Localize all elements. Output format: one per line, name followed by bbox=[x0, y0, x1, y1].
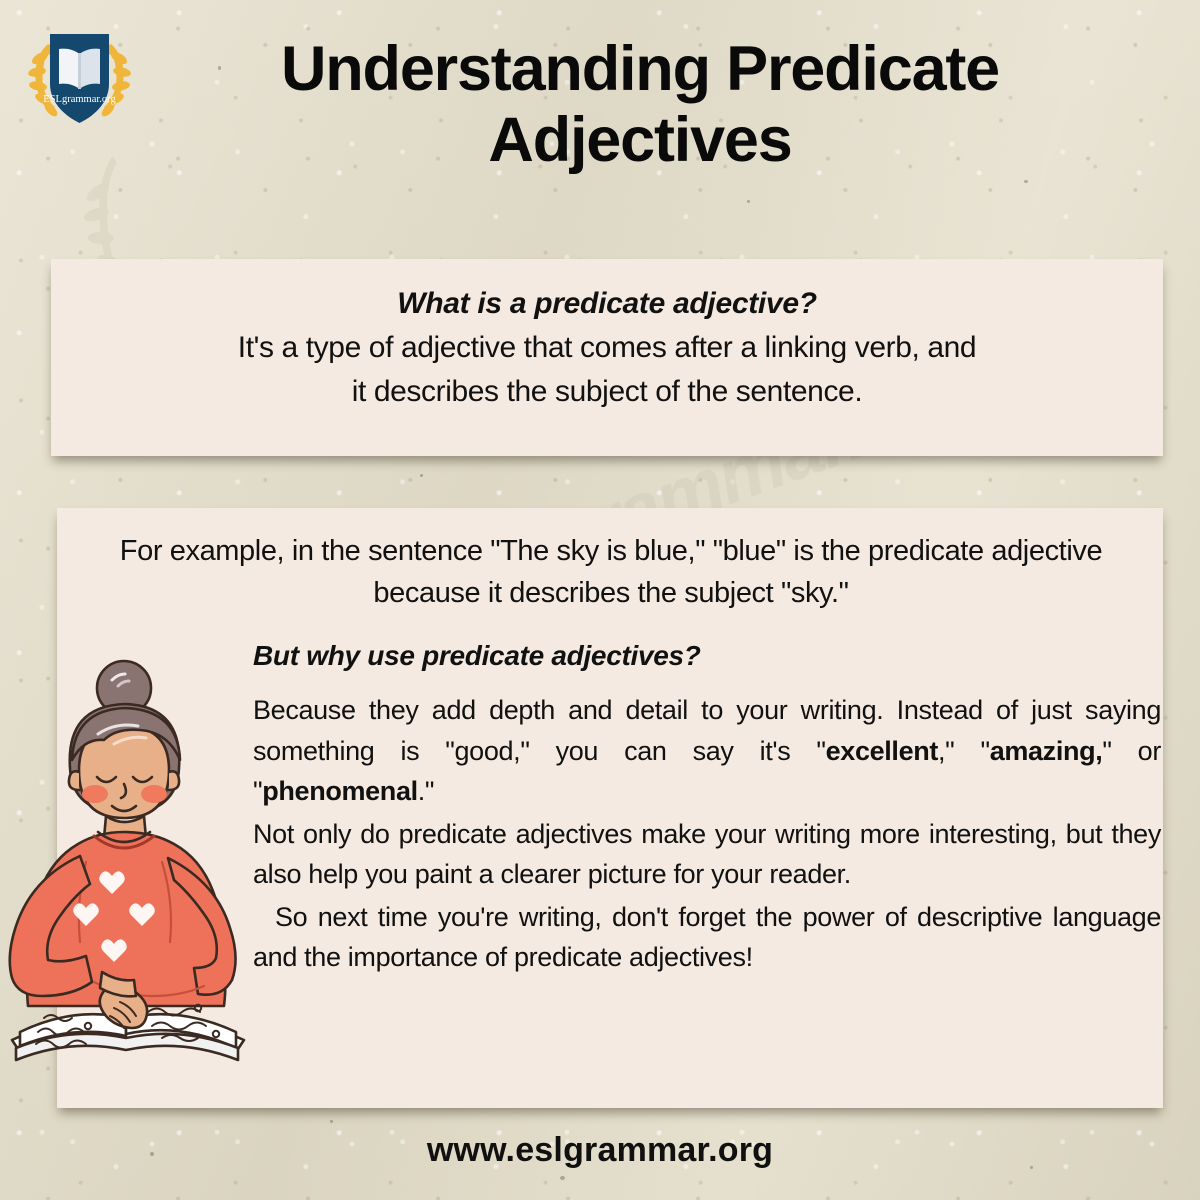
page-title: Understanding Predicate Adjectives bbox=[160, 34, 1120, 175]
definition-line-1: It's a type of adjective that comes afte… bbox=[51, 331, 1163, 365]
definition-heading: What is a predicate adjective? bbox=[51, 287, 1163, 321]
emphasis-word: amazing, bbox=[990, 736, 1103, 766]
definition-card: What is a predicate adjective? It's a ty… bbox=[51, 259, 1163, 456]
body-run: ." bbox=[418, 776, 434, 806]
body-run: So next time you're writing, don't forge… bbox=[253, 902, 1161, 973]
example-text: For example, in the sentence "The sky is… bbox=[91, 530, 1131, 614]
why-heading: But why use predicate adjectives? bbox=[253, 640, 1153, 672]
page-title-line2: Adjectives bbox=[160, 105, 1120, 176]
paper-speck bbox=[560, 1176, 565, 1180]
footer-website: www.eslgrammar.org bbox=[0, 1131, 1200, 1170]
paper-speck bbox=[747, 200, 750, 203]
paper-speck bbox=[1024, 180, 1028, 183]
logo-label: ESLgrammar.org bbox=[43, 94, 116, 105]
body-run: Not only do predicate adjectives make yo… bbox=[253, 819, 1161, 890]
emphasis-word: phenomenal bbox=[262, 776, 418, 806]
page-title-line1: Understanding Predicate bbox=[160, 34, 1120, 105]
body-paragraphs: Because they add depth and detail to you… bbox=[253, 690, 1161, 980]
body-paragraph: Because they add depth and detail to you… bbox=[253, 690, 1161, 812]
open-book-icon bbox=[59, 49, 100, 89]
body-run: ," " bbox=[938, 736, 990, 766]
eslgrammar-shield-logo: ESLgrammar.org bbox=[22, 22, 137, 134]
body-paragraph: So next time you're writing, don't forge… bbox=[253, 897, 1161, 978]
paper-speck bbox=[330, 1120, 333, 1123]
body-paragraph: Not only do predicate adjectives make yo… bbox=[253, 814, 1161, 895]
paper-speck bbox=[420, 474, 423, 477]
woman-reading-book-illustration bbox=[2, 636, 254, 1088]
emphasis-word: excellent bbox=[826, 736, 938, 766]
definition-line-2: it describes the subject of the sentence… bbox=[51, 375, 1163, 409]
